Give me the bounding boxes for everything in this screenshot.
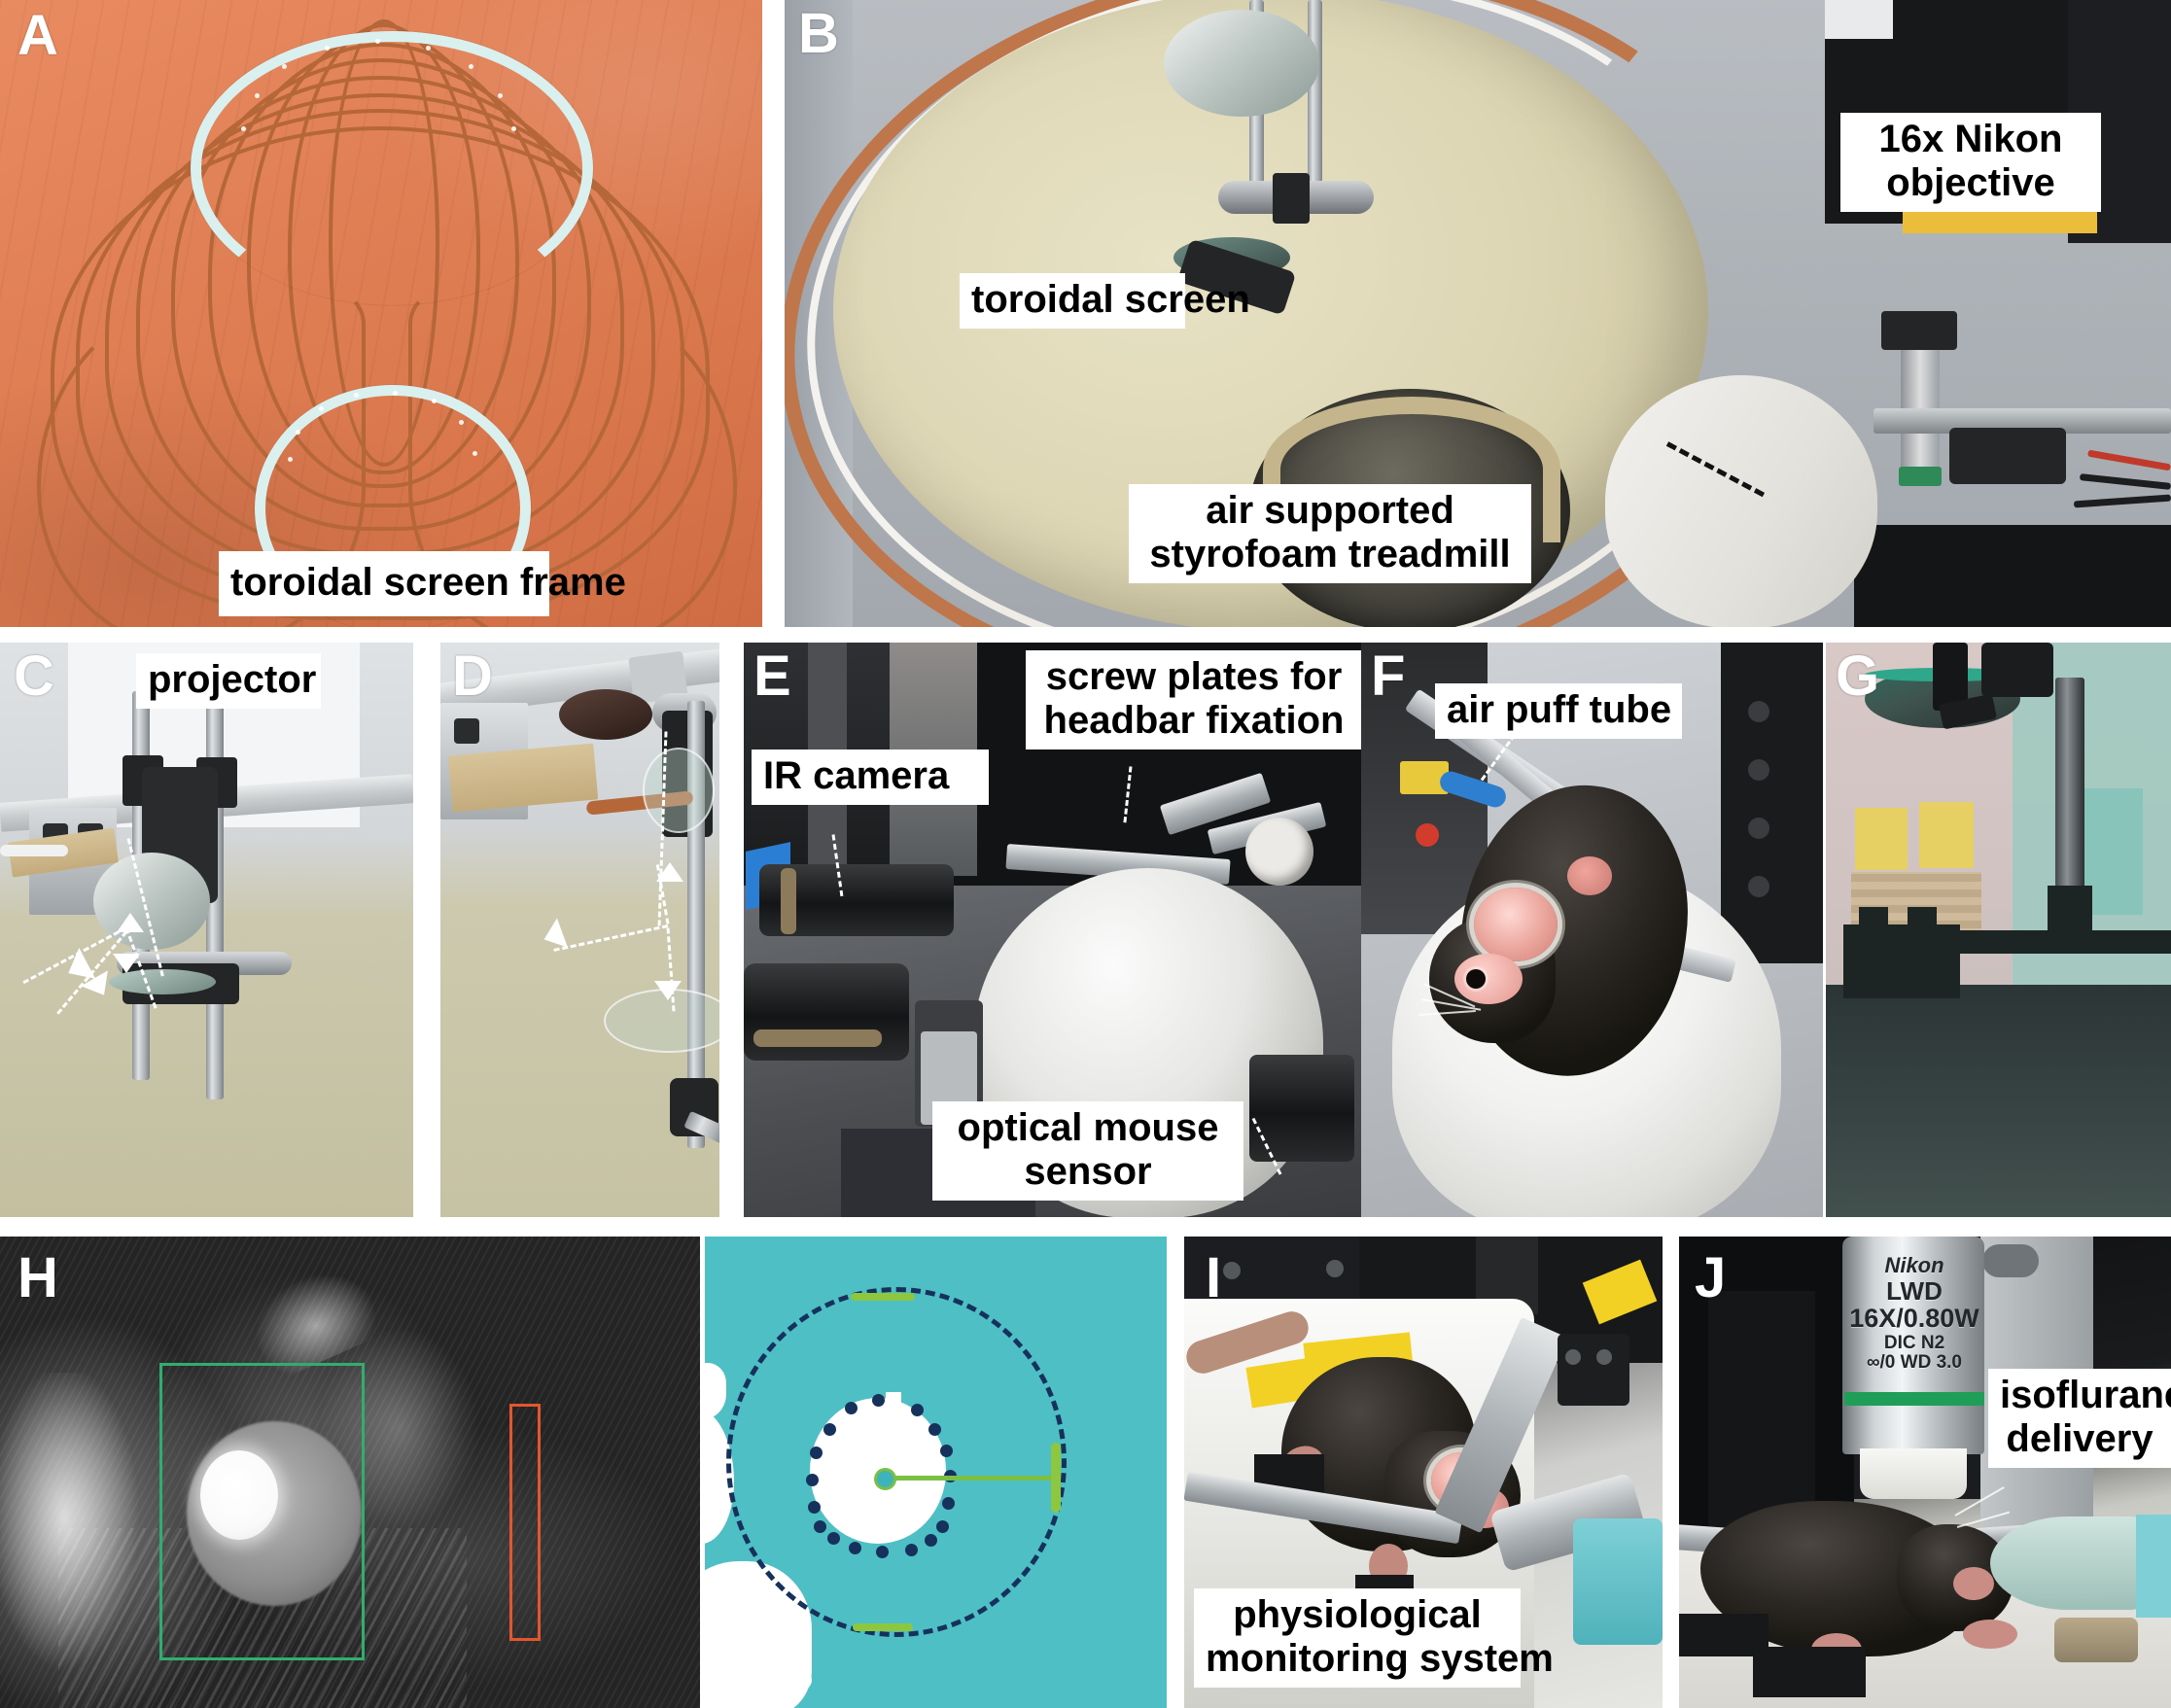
- breadboard-hole: [1596, 1349, 1612, 1365]
- projected-yellow-pattern: [1855, 808, 1908, 870]
- panel-d-projector-path: D: [440, 643, 719, 1217]
- ring-screw: [498, 93, 503, 98]
- valve-indicator: [1416, 823, 1439, 847]
- callout-projector: projector: [136, 653, 321, 709]
- stage-block: [1859, 907, 1888, 934]
- objective-green-band: [1844, 1392, 1984, 1406]
- optical-post: [1308, 0, 1322, 194]
- callout-ir-camera: IR camera: [752, 749, 989, 805]
- mouse-ear: [1567, 856, 1612, 895]
- contour-point: [814, 1520, 826, 1533]
- pupil-radius-line: [884, 1476, 1059, 1481]
- mirror-mount: [1981, 643, 2053, 697]
- contour-point: [928, 1423, 941, 1436]
- panel-h-pupil-fit-overlay: [705, 1237, 1167, 1708]
- projection-mirror: [1164, 10, 1319, 117]
- ring-screw: [296, 430, 300, 435]
- styrofoam-enclosure: [1605, 375, 1877, 627]
- figure-canvas: A toroidal screen frame: [0, 0, 2171, 1708]
- panel-letter-h: H: [18, 1250, 57, 1307]
- mouse-paw: [1963, 1620, 2017, 1649]
- projector-mirror: [559, 689, 652, 740]
- thresholded-region: [787, 1668, 812, 1691]
- power-cable: [2087, 450, 2171, 471]
- rig-panel: [1708, 1291, 1815, 1534]
- ring-screw: [511, 126, 516, 131]
- lens-focus-ring: [781, 868, 796, 934]
- isoflurane-nose-cone: [1990, 1516, 2146, 1610]
- stage-rail: [1952, 930, 2171, 954]
- panel-letter-c: C: [14, 648, 53, 705]
- panel-letter-f: F: [1371, 648, 1404, 705]
- lens-focus-ring: [753, 1029, 882, 1047]
- objective-engraving-series: LWD: [1854, 1277, 1975, 1305]
- ring-screw: [325, 46, 330, 51]
- panel-j-anesthetized-imaging: Nikon LWD 16X/0.80W DIC N2 ∞/0 WD 3.0 J …: [1679, 1237, 2171, 1708]
- isoflurane-tubing: [2136, 1515, 2171, 1618]
- objective-engraving-magnification: 16X/0.80W: [1846, 1305, 1982, 1333]
- callout-nikon-objective: 16x Nikon objective: [1840, 113, 2101, 212]
- ray-arrowhead: [117, 913, 144, 932]
- ring-screw: [469, 64, 473, 69]
- panel-e-treadmill-cameras: E screw plates for headbar fixation IR c…: [744, 643, 1361, 1217]
- panel-letter-i: I: [1206, 1250, 1220, 1307]
- panel-g-projected-scene: G: [1826, 643, 2171, 1217]
- callout-screw-plates: screw plates for headbar fixation: [1026, 650, 1361, 749]
- callout-physiological-monitoring: physiological monitoring system: [1194, 1588, 1521, 1688]
- mouse-snout: [1953, 1567, 1994, 1600]
- radius-endcap: [1051, 1443, 1061, 1513]
- roi-box-pupil: [159, 1363, 365, 1660]
- screw: [1326, 1260, 1344, 1277]
- panel-a-toroidal-screen-frame: A toroidal screen frame: [0, 0, 762, 627]
- stage-block: [1908, 907, 1937, 934]
- objective-engraving-optics: DIC N2: [1850, 1334, 1978, 1354]
- eyelid-arc-bottom: [853, 1623, 913, 1631]
- glass-diffuser: [643, 748, 715, 833]
- panel-b-rig-overview: B 16x Nikon objective toroidal screen ai…: [785, 0, 2171, 627]
- objective-mount: [2048, 886, 2092, 930]
- ray-arrowhead: [113, 954, 140, 973]
- breadboard: [1558, 1334, 1629, 1406]
- panel-letter-a: A: [18, 8, 57, 64]
- rig-hardware-right: [1721, 643, 1823, 963]
- extrusion-slot: [454, 718, 479, 744]
- optical-table: [1826, 985, 2171, 1217]
- ring-screw: [375, 39, 380, 44]
- screw: [1223, 1262, 1241, 1279]
- pupil-notch: [886, 1392, 901, 1408]
- panel-c-projector: C projector: [0, 643, 413, 1217]
- ring-screw: [432, 399, 437, 403]
- contour-point: [808, 1501, 821, 1514]
- objective-engraving-wd: ∞/0 WD 3.0: [1846, 1353, 1982, 1374]
- contour-point: [872, 1394, 885, 1407]
- rack-panel: [1825, 0, 1893, 39]
- objective-green-band: [1899, 467, 1942, 486]
- isoflurane-nose-cone: [1573, 1518, 1663, 1645]
- panel-letter-b: B: [798, 6, 838, 62]
- contour-point: [845, 1402, 858, 1414]
- signal-cable: [2074, 495, 2171, 508]
- ring-screw: [393, 391, 398, 396]
- ring-screw: [459, 420, 464, 425]
- breadboard-hole: [1748, 818, 1769, 839]
- ring-screw: [241, 126, 246, 131]
- stage-block: [1843, 924, 1960, 998]
- contour-point: [827, 1532, 840, 1545]
- contour-point: [925, 1534, 937, 1547]
- contour-point: [810, 1447, 823, 1459]
- objective-engraving-brand: Nikon: [1854, 1254, 1975, 1277]
- mouse-ear: [1454, 954, 1523, 1004]
- thermal-pad: [1753, 1647, 1866, 1697]
- contour-point: [806, 1474, 819, 1486]
- optical-post: [2055, 678, 2084, 911]
- roi-box-whisker: [509, 1404, 541, 1641]
- contour-point: [905, 1544, 918, 1556]
- panel-h-ir-eye-image: H: [0, 1237, 700, 1708]
- objective-turret: [1881, 311, 1957, 350]
- panel-f-air-puff: F air puff tube: [1361, 643, 1823, 1217]
- callout-toroidal-screen-frame: toroidal screen frame: [219, 551, 549, 616]
- callout-isoflurane-delivery: isoflurane delivery: [1988, 1369, 2171, 1468]
- contour-point: [849, 1542, 861, 1554]
- breadboard-hole: [1748, 701, 1769, 722]
- breadboard-hole: [1565, 1349, 1581, 1365]
- callout-toroidal-screen: toroidal screen: [960, 273, 1185, 329]
- ring-screw: [288, 457, 293, 462]
- ring-screw: [282, 64, 287, 69]
- ring-screw: [319, 406, 324, 411]
- ring-screw: [473, 451, 477, 456]
- thermal-pad: [1679, 1614, 1768, 1656]
- contour-point: [942, 1497, 955, 1510]
- pupil-center-marker: [874, 1468, 896, 1490]
- post-clamp: [1273, 173, 1310, 224]
- breadboard-hole: [1748, 876, 1769, 897]
- ring-screw: [426, 46, 431, 51]
- air-line: [0, 845, 68, 856]
- breadboard-hole: [1748, 759, 1769, 781]
- ray-arrowhead: [656, 862, 683, 882]
- ring-screw: [255, 93, 260, 98]
- mouse-eye: [1466, 969, 1486, 989]
- contour-point: [936, 1520, 949, 1533]
- objective-front-lens: [1860, 1448, 1967, 1499]
- callout-treadmill: air supported styrofoam treadmill: [1129, 484, 1531, 583]
- callout-optical-mouse-sensor: optical mouse sensor: [932, 1101, 1243, 1201]
- eyelid-arc-top: [851, 1293, 915, 1301]
- contour-point: [823, 1423, 836, 1436]
- panel-letter-e: E: [753, 648, 790, 705]
- thresholded-region: [705, 1363, 726, 1419]
- contour-point: [940, 1445, 953, 1457]
- contour-point: [876, 1546, 889, 1558]
- adjustment-knob: [2054, 1618, 2138, 1662]
- ring-screw: [354, 393, 359, 398]
- screen-support-block: [448, 744, 598, 813]
- optical-table-edge: [1854, 525, 2171, 627]
- frame-outer-ring: [191, 31, 593, 305]
- cranial-window: [1474, 888, 1558, 961]
- callout-air-puff-tube: air puff tube: [1435, 683, 1682, 739]
- panel-letter-d: D: [452, 648, 492, 705]
- panel-letter-g: G: [1836, 648, 1878, 705]
- projected-yellow-pattern: [1919, 802, 1974, 868]
- ray-arrowhead: [654, 981, 682, 1000]
- light-ray: [553, 924, 668, 952]
- panel-i-physiological-monitoring: I physiological monitoring system: [1184, 1237, 1663, 1708]
- contour-point: [911, 1404, 924, 1416]
- signal-cable: [2080, 473, 2171, 490]
- air-port: [1245, 818, 1313, 886]
- panel-letter-j: J: [1695, 1250, 1725, 1307]
- camera-mount: [1949, 428, 2066, 484]
- clamp-ring: [1982, 1244, 2039, 1277]
- ray-arrowhead: [539, 919, 568, 955]
